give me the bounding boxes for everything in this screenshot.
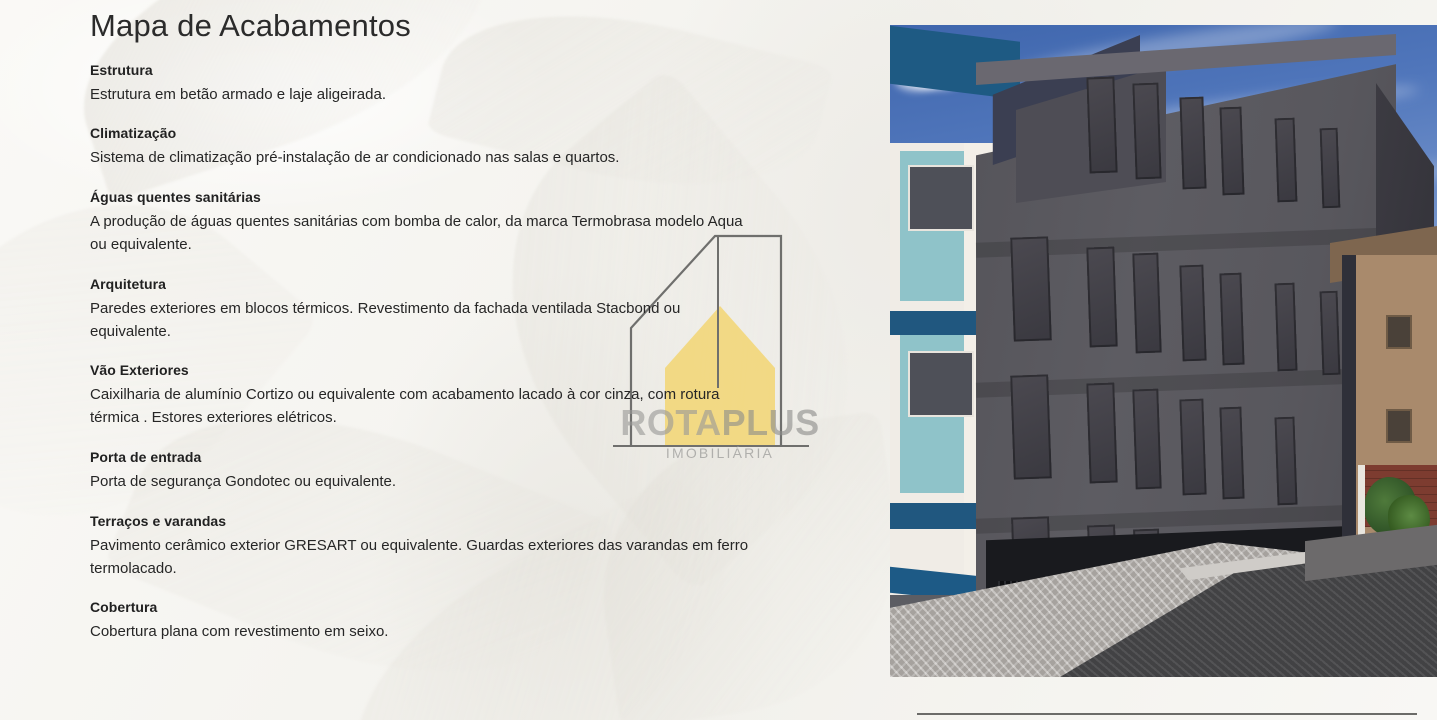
section-body: A produção de águas quentes sanitárias c… xyxy=(90,211,755,257)
section-terracos-e-varandas: Terraços e varandas Pavimento cerâmico e… xyxy=(90,513,790,581)
finishes-list: Mapa de Acabamentos Estrutura Estrutura … xyxy=(90,0,790,663)
section-porta-de-entrada: Porta de entrada Porta de segurança Gond… xyxy=(90,449,790,494)
facade-window xyxy=(1132,389,1161,490)
facade-window xyxy=(1132,83,1161,180)
section-body: Estrutura em betão armado e laje aligeir… xyxy=(90,84,755,107)
section-heading: Arquitetura xyxy=(90,276,790,292)
section-heading: Climatização xyxy=(90,125,790,141)
section-aguas-quentes-sanitarias: Águas quentes sanitárias A produção de á… xyxy=(90,189,790,257)
facade-window xyxy=(1179,265,1206,362)
section-arquitetura: Arquitetura Paredes exteriores em blocos… xyxy=(90,276,790,344)
facade-window xyxy=(1274,417,1297,506)
facade-window xyxy=(1219,107,1244,196)
section-heading: Cobertura xyxy=(90,599,790,615)
right-building-window xyxy=(1386,409,1412,443)
facade-window xyxy=(1320,128,1341,209)
facade-window xyxy=(1086,383,1117,484)
section-heading: Porta de entrada xyxy=(90,449,790,465)
page-title: Mapa de Acabamentos xyxy=(90,8,790,44)
neighbour-window xyxy=(908,165,974,231)
bottom-divider-rule xyxy=(917,713,1417,715)
section-heading: Terraços e varandas xyxy=(90,513,790,529)
section-body: Caixilharia de alumínio Cortizo ou equiv… xyxy=(90,384,755,430)
section-heading: Águas quentes sanitárias xyxy=(90,189,790,205)
facade-window xyxy=(1086,77,1117,174)
facade-window xyxy=(1219,407,1244,500)
section-body: Pavimento cerâmico exterior GRESART ou e… xyxy=(90,535,755,581)
facade-window xyxy=(1010,236,1052,341)
section-body: Sistema de climatização pré-instalação d… xyxy=(90,147,755,170)
facade-window xyxy=(1219,273,1244,366)
render-scene xyxy=(890,25,1437,677)
facade-window xyxy=(1086,247,1117,348)
section-cobertura: Cobertura Cobertura plana com revestimen… xyxy=(90,599,790,644)
right-building-window xyxy=(1386,315,1412,349)
facade-window xyxy=(1274,283,1297,372)
facade-window xyxy=(1010,374,1052,479)
document-page: ROTAPLUS IMOBILIÁRIA Mapa de Acabamentos… xyxy=(0,0,1437,720)
section-heading: Vão Exteriores xyxy=(90,362,790,378)
facade-window xyxy=(1179,97,1206,190)
building-render-photo xyxy=(890,25,1437,677)
facade-window xyxy=(1275,118,1298,203)
section-climatizacao: Climatização Sistema de climatização pré… xyxy=(90,125,790,170)
section-estrutura: Estrutura Estrutura em betão armado e la… xyxy=(90,62,790,107)
section-heading: Estrutura xyxy=(90,62,790,78)
neighbour-window xyxy=(908,351,974,417)
facade-window xyxy=(1179,399,1206,496)
facade-window xyxy=(1320,291,1341,376)
section-vao-exteriores: Vão Exteriores Caixilharia de alumínio C… xyxy=(90,362,790,430)
facade-window xyxy=(1132,253,1161,354)
section-body: Porta de segurança Gondotec ou equivalen… xyxy=(90,471,755,494)
section-body: Cobertura plana com revestimento em seix… xyxy=(90,621,755,644)
section-body: Paredes exteriores em blocos térmicos. R… xyxy=(90,298,755,344)
